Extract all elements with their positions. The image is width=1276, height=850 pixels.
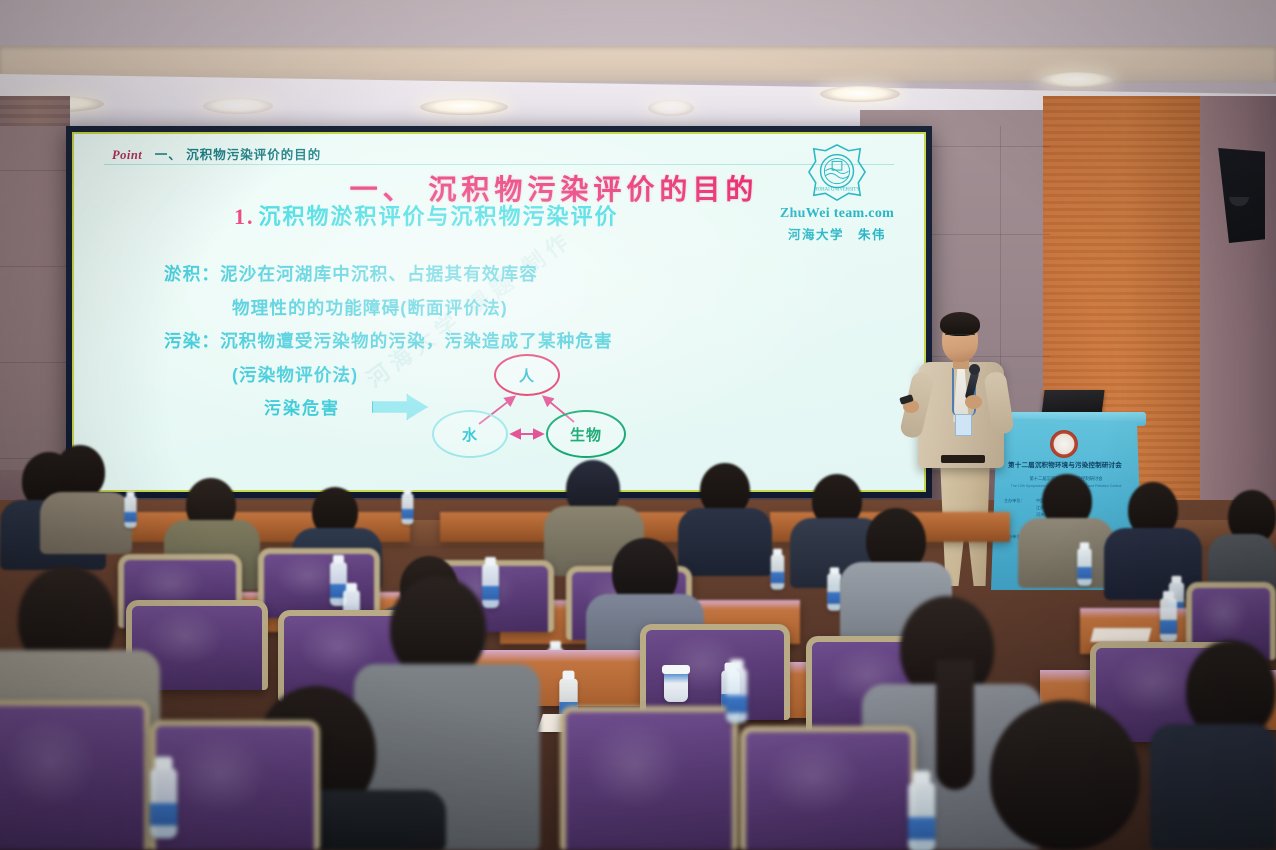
coffee-cup-icon xyxy=(664,672,688,702)
diagram-node-sheng: 生物 xyxy=(546,410,626,458)
speaker-badge xyxy=(955,414,972,436)
conference-photo-scene: 河海大学 课题 制作 Point 一、 沉积物污染评价的目的 一、 沉积物污染评… xyxy=(0,0,1276,850)
water-bottle-icon xyxy=(124,496,136,528)
speaker-hair xyxy=(940,312,980,336)
podium-heading: 第十二届沉积物环境与污染控制研讨会 xyxy=(995,462,1135,470)
chair[interactable] xyxy=(258,548,380,618)
water-bottle-icon xyxy=(1160,598,1177,642)
svg-text:HOHAI UNIVERSITY: HOHAI UNIVERSITY xyxy=(814,187,860,192)
water-bottle-icon xyxy=(908,782,935,850)
slide-body-cont: 物理性的的功能障碍(断面评价法) xyxy=(164,296,884,321)
slide-subtitle-number: 1. xyxy=(234,204,255,229)
chair[interactable] xyxy=(0,700,150,850)
slide-logo-line2: 河海大学 朱伟 xyxy=(764,224,910,243)
water-bottle-icon xyxy=(771,554,785,589)
eyeglasses-icon xyxy=(945,334,975,342)
speaker-right-hand xyxy=(965,395,982,409)
slide-body-lead: 淤积： xyxy=(164,262,220,287)
slide-logo-line1: ZhuWei team.com xyxy=(764,206,910,222)
water-bottle-icon xyxy=(1077,548,1091,585)
downlight-icon xyxy=(203,98,273,114)
slide-body-text: 沉积物遭受污染物的污染，污染造成了某种危害 xyxy=(220,329,884,354)
downlight-icon xyxy=(820,86,900,102)
note-paper xyxy=(1090,628,1151,642)
slide-subtitle-text: 沉积物淤积评价与沉积物污染评价 xyxy=(259,204,619,229)
slide-body-item: 淤积： 泥沙在河湖库中沉积、占据其有效库容 物理性的的功能障碍(断面评价法) xyxy=(164,262,884,321)
downlight-icon xyxy=(420,99,508,115)
speaker-belt xyxy=(941,455,985,463)
conference-emblem-icon xyxy=(1050,430,1078,458)
slide-logo: HOHAI UNIVERSITY ZhuWei team.com 河海大学 朱伟 xyxy=(764,142,910,243)
projection-screen: 河海大学 课题 制作 Point 一、 沉积物污染评价的目的 一、 沉积物污染评… xyxy=(72,132,926,492)
water-bottle-icon xyxy=(402,494,414,525)
podium-organizers-label: 主办单位： xyxy=(1004,498,1034,504)
diagram-node-shui: 水 xyxy=(432,410,508,458)
chair[interactable] xyxy=(560,706,738,850)
diagram-node-ren: 人 xyxy=(494,354,560,396)
hohai-university-seal-icon: HOHAI UNIVERSITY xyxy=(806,142,868,204)
slide-kicker: Point 一、 沉积物污染评价的目的 xyxy=(112,144,321,163)
slide-diagram: 污染危害 人 水 生物 xyxy=(264,352,684,478)
water-bottle-icon xyxy=(726,668,747,723)
downlight-icon xyxy=(1040,72,1114,88)
slide-body-lead: 污染： xyxy=(164,329,220,354)
microphone-head-icon xyxy=(969,364,980,375)
water-bottle-icon xyxy=(150,768,177,838)
slide-kicker-text: 一、 沉积物污染评价的目的 xyxy=(155,148,321,162)
slide-kicker-label: Point xyxy=(112,148,142,162)
downlight-icon xyxy=(648,100,694,116)
slide-body-text: 泥沙在河湖库中沉积、占据其有效库容 xyxy=(220,262,884,287)
chair[interactable] xyxy=(740,726,916,850)
water-bottle-icon xyxy=(482,564,499,608)
